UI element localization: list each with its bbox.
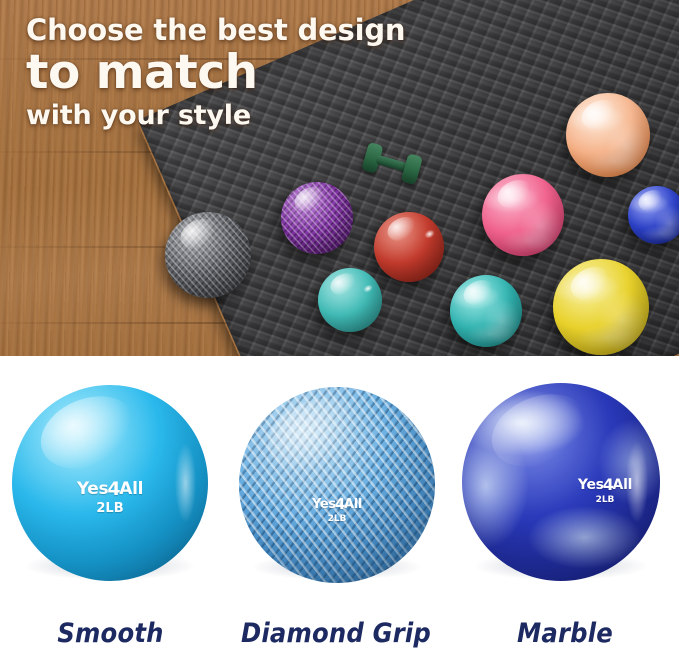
ball-shading [318, 268, 382, 332]
ball-rim-light [175, 444, 197, 522]
headline: Choose the best design to match with you… [26, 16, 405, 129]
purple-diamond-grip-ball [281, 182, 353, 254]
product-panels: Yes 4 All 2LB Ye [0, 356, 679, 604]
yellow-marble-ball [553, 259, 649, 355]
headline-line-1: Choose the best design [26, 16, 405, 45]
teal-marble-ball [450, 275, 522, 347]
ball-shading [165, 212, 251, 298]
headline-line-3: with your style [26, 102, 405, 129]
teal-smooth-ball [318, 268, 382, 332]
panel-diamond-grip[interactable]: Yes 4 All 2LB [221, 356, 451, 604]
panel-smooth[interactable]: Yes 4 All 2LB [0, 356, 221, 604]
peach-marble-ball [566, 93, 650, 177]
caption-marble: Marble [451, 604, 679, 663]
ball-shading [628, 186, 679, 244]
ball-shading [374, 212, 444, 282]
product-captions: Smooth Diamond Grip Marble [0, 604, 679, 663]
caption-smooth: Smooth [0, 604, 221, 663]
ball-shading [482, 174, 564, 256]
grey-diamond-grip-ball [165, 212, 251, 298]
marble-product-ball: Yes 4 All 2LB [462, 383, 660, 581]
smooth-product-ball: Yes 4 All 2LB [12, 385, 208, 581]
ball-rim-light [626, 442, 648, 521]
caption-diamond-grip: Diamond Grip [221, 604, 451, 663]
ball-shading [553, 259, 649, 355]
panel-marble[interactable]: Yes 4 All 2LB [451, 356, 679, 604]
ball-shading [450, 275, 522, 347]
pink-marble-ball [482, 174, 564, 256]
product-infographic: Choose the best design to match with you… [0, 0, 679, 663]
blue-marble-ball [628, 186, 679, 244]
ball-shading [566, 93, 650, 177]
ball-shading [281, 182, 353, 254]
product-panels-section: Yes 4 All 2LB Ye [0, 356, 679, 663]
headline-line-2: to match [26, 49, 405, 96]
diamond-grip-product-ball: Yes 4 All 2LB [239, 387, 435, 583]
red-smooth-ball [374, 212, 444, 282]
hero-photo: Choose the best design to match with you… [0, 0, 679, 356]
